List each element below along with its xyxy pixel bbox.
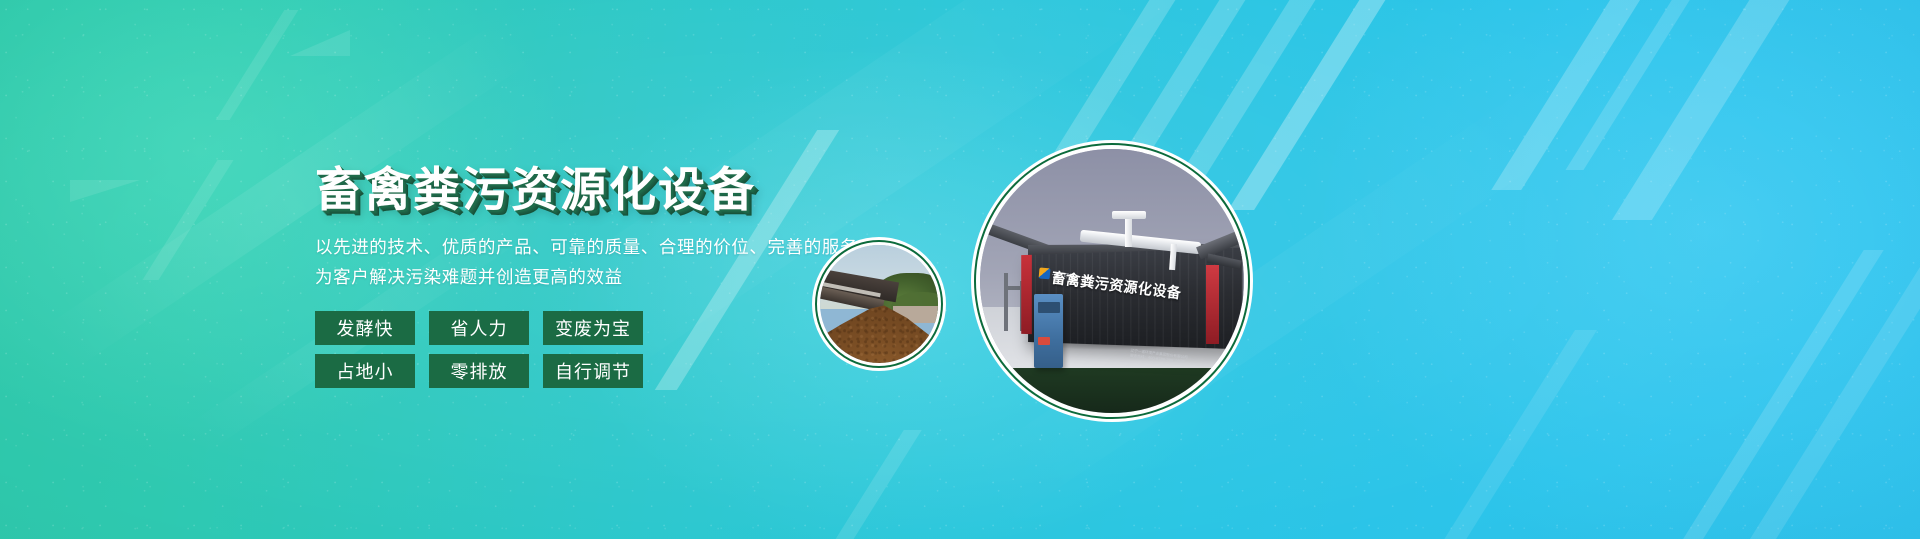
feature-tag-list: 发酵快 省人力 变废为宝 占地小 零排放 自行调节 xyxy=(315,311,665,388)
feature-tag-labor-saving[interactable]: 省人力 xyxy=(429,311,529,345)
diagonal-stripe-icon xyxy=(1676,250,1883,539)
background-vignette xyxy=(0,0,1920,539)
equipment-pipe-vertical xyxy=(1125,215,1132,247)
brand-mark-icon xyxy=(1039,268,1051,280)
equipment-photo-circle[interactable]: 一诺环境 畜禽粪污资源化设备 辽宁一诺环境产业集团股份有限公司 服务热线：400… xyxy=(971,140,1253,422)
feature-tag-zero-emission[interactable]: 零排放 xyxy=(429,354,529,388)
equipment-control-panel xyxy=(1034,294,1063,368)
diagonal-stripe-icon xyxy=(1737,230,1920,539)
diagonal-stripe-icon xyxy=(816,430,921,539)
feature-tag-fast-fermentation[interactable]: 发酵快 xyxy=(315,311,415,345)
compost-photo-circle[interactable] xyxy=(812,237,946,371)
equipment-photo: 一诺环境 畜禽粪污资源化设备 辽宁一诺环境产业集团股份有限公司 服务热线：400… xyxy=(980,149,1244,413)
compost-scene xyxy=(820,245,938,363)
diagonal-stripe-icon xyxy=(216,10,299,120)
triangle-accent-icon xyxy=(70,180,140,202)
diagonal-stripe-icon xyxy=(1491,0,1658,190)
equipment-scene: 一诺环境 畜禽粪污资源化设备 辽宁一诺环境产业集团股份有限公司 服务热线：400… xyxy=(980,149,1244,413)
feature-tag-small-footprint[interactable]: 占地小 xyxy=(315,354,415,388)
diagonal-stripe-icon xyxy=(143,160,234,280)
diagonal-stripe-icon xyxy=(1425,330,1597,539)
diagonal-stripe-icon xyxy=(1566,0,1709,170)
triangle-accent-icon xyxy=(290,30,350,56)
diagonal-stripe-icon xyxy=(1228,0,1398,210)
feature-tag-self-adjusting[interactable]: 自行调节 xyxy=(543,354,643,388)
equipment-red-end-cap xyxy=(1021,254,1032,334)
equipment-grass-strip xyxy=(980,368,1244,413)
background-speckle-texture xyxy=(0,0,1920,539)
diagonal-stripe-icon xyxy=(1612,0,1808,220)
page-title: 畜禽粪污资源化设备 xyxy=(315,165,955,217)
control-panel-screen xyxy=(1038,302,1060,314)
equipment-support-leg xyxy=(1004,273,1008,331)
control-panel-button xyxy=(1038,337,1050,345)
promo-banner: 畜禽粪污资源化设备 以先进的技术、优质的产品、可靠的质量、合理的价位、完善的服务… xyxy=(0,0,1920,539)
compost-photo xyxy=(820,245,938,363)
equipment-pipe-cap xyxy=(1112,211,1146,219)
background-glow-right xyxy=(1280,0,1920,539)
feature-tag-waste-to-treasure[interactable]: 变废为宝 xyxy=(543,311,643,345)
